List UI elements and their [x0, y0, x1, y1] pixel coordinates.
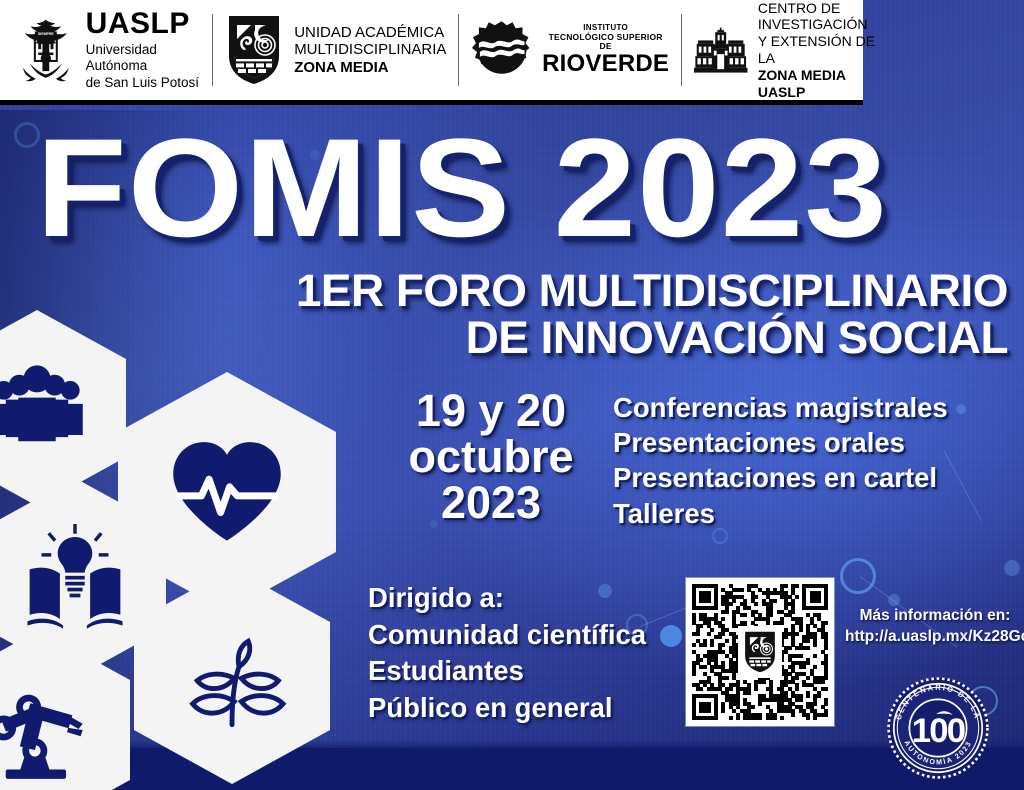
header-logo-band: SIEMPRE UASLP Universidad Autónoma de Sa… — [0, 0, 863, 105]
plant-leaves-icon — [174, 618, 290, 734]
audience-list: Dirigido a: Comunidad científica Estudia… — [368, 580, 698, 726]
logo-uaslp-sub1: Universidad Autónoma — [86, 42, 201, 74]
logo-rioverde-line3: RIOVERDE — [542, 51, 670, 76]
qr-code[interactable] — [686, 578, 834, 726]
hexagon-people-group — [0, 310, 126, 506]
logo-centro-investigacion: CENTRO DE INVESTIGACIÓN Y EXTENSIÓN DE L… — [682, 11, 904, 89]
activity-item: Conferencias magistrales — [613, 390, 1013, 425]
people-group-icon — [0, 356, 89, 460]
unidad-academica-shield-icon — [225, 13, 283, 87]
book-lightbulb-icon — [21, 524, 129, 632]
audience-heading: Dirigido a: — [368, 580, 698, 617]
rioverde-gear-waves-icon — [471, 19, 532, 81]
audience-item: Estudiantes — [368, 653, 698, 690]
logo-uaslp-sub2: de San Luis Potosí — [86, 75, 201, 91]
poster-fomis-2023: SIEMPRE UASLP Universidad Autónoma de Sa… — [0, 0, 1024, 790]
heart-pulse-icon — [163, 428, 291, 556]
more-info: Más información en: http://a.uaslp.mx/Kz… — [845, 606, 1024, 648]
uaslp-eagle-shield-icon: SIEMPRE — [18, 11, 74, 89]
activity-item: Presentaciones en cartel — [613, 460, 1013, 495]
page-title: FOMIS 2023 — [36, 118, 1024, 243]
event-dates: 19 y 20 octubre 2023 — [386, 388, 596, 526]
logo-ua-line3: ZONA MEDIA — [294, 59, 446, 76]
logo-uaslp-name: UASLP — [86, 9, 201, 39]
qr-code-modules — [692, 584, 828, 720]
audience-item: Comunidad científica — [368, 617, 698, 654]
hexagon-icon-cluster — [0, 300, 298, 770]
robot-arm-icon — [0, 678, 91, 782]
logo-cie-line2: Y EXTENSIÓN DE LA — [758, 33, 892, 67]
centenario-autonomia-seal: CENTENARIO DE LA AUTONOMÍA 2023 100 — [886, 676, 990, 780]
qr-center-logo — [738, 626, 782, 678]
logo-rioverde: INSTITUTO TECNOLÓGICO SUPERIOR DE RIOVER… — [459, 11, 681, 89]
event-dates-line2: octubre — [386, 434, 596, 480]
unidad-academica-shield-icon — [742, 630, 778, 674]
activities-list: Conferencias magistrales Presentaciones … — [613, 390, 1013, 531]
svg-text:100: 100 — [912, 712, 965, 750]
event-dates-line3: 2023 — [386, 480, 596, 526]
svg-text:SIEMPRE: SIEMPRE — [38, 32, 55, 36]
logo-rioverde-line2: TECNOLÓGICO SUPERIOR DE — [542, 33, 670, 51]
logo-ua-line2: MULTIDISCIPLINARIA — [294, 41, 446, 58]
event-dates-line1: 19 y 20 — [386, 388, 596, 434]
logo-uaslp: SIEMPRE UASLP Universidad Autónoma de Sa… — [0, 11, 212, 89]
activity-item: Talleres — [613, 496, 1013, 531]
centro-investigacion-building-icon — [694, 14, 747, 86]
logo-cie-line1: CENTRO DE INVESTIGACIÓN — [758, 0, 892, 33]
activity-item: Presentaciones orales — [613, 425, 1013, 460]
logo-unidad-academica: UNIDAD ACADÉMICA MULTIDISCIPLINARIA ZONA… — [213, 11, 458, 89]
seal-100-mark: 100 — [912, 711, 965, 750]
audience-item: Público en general — [368, 690, 698, 727]
more-info-label: Más información en: — [845, 606, 1024, 627]
logo-ua-line1: UNIDAD ACADÉMICA — [294, 24, 446, 41]
more-info-url[interactable]: http://a.uaslp.mx/Kz28Gcj7 — [845, 627, 1024, 648]
logo-cie-line3: ZONA MEDIA UASLP — [758, 67, 892, 101]
